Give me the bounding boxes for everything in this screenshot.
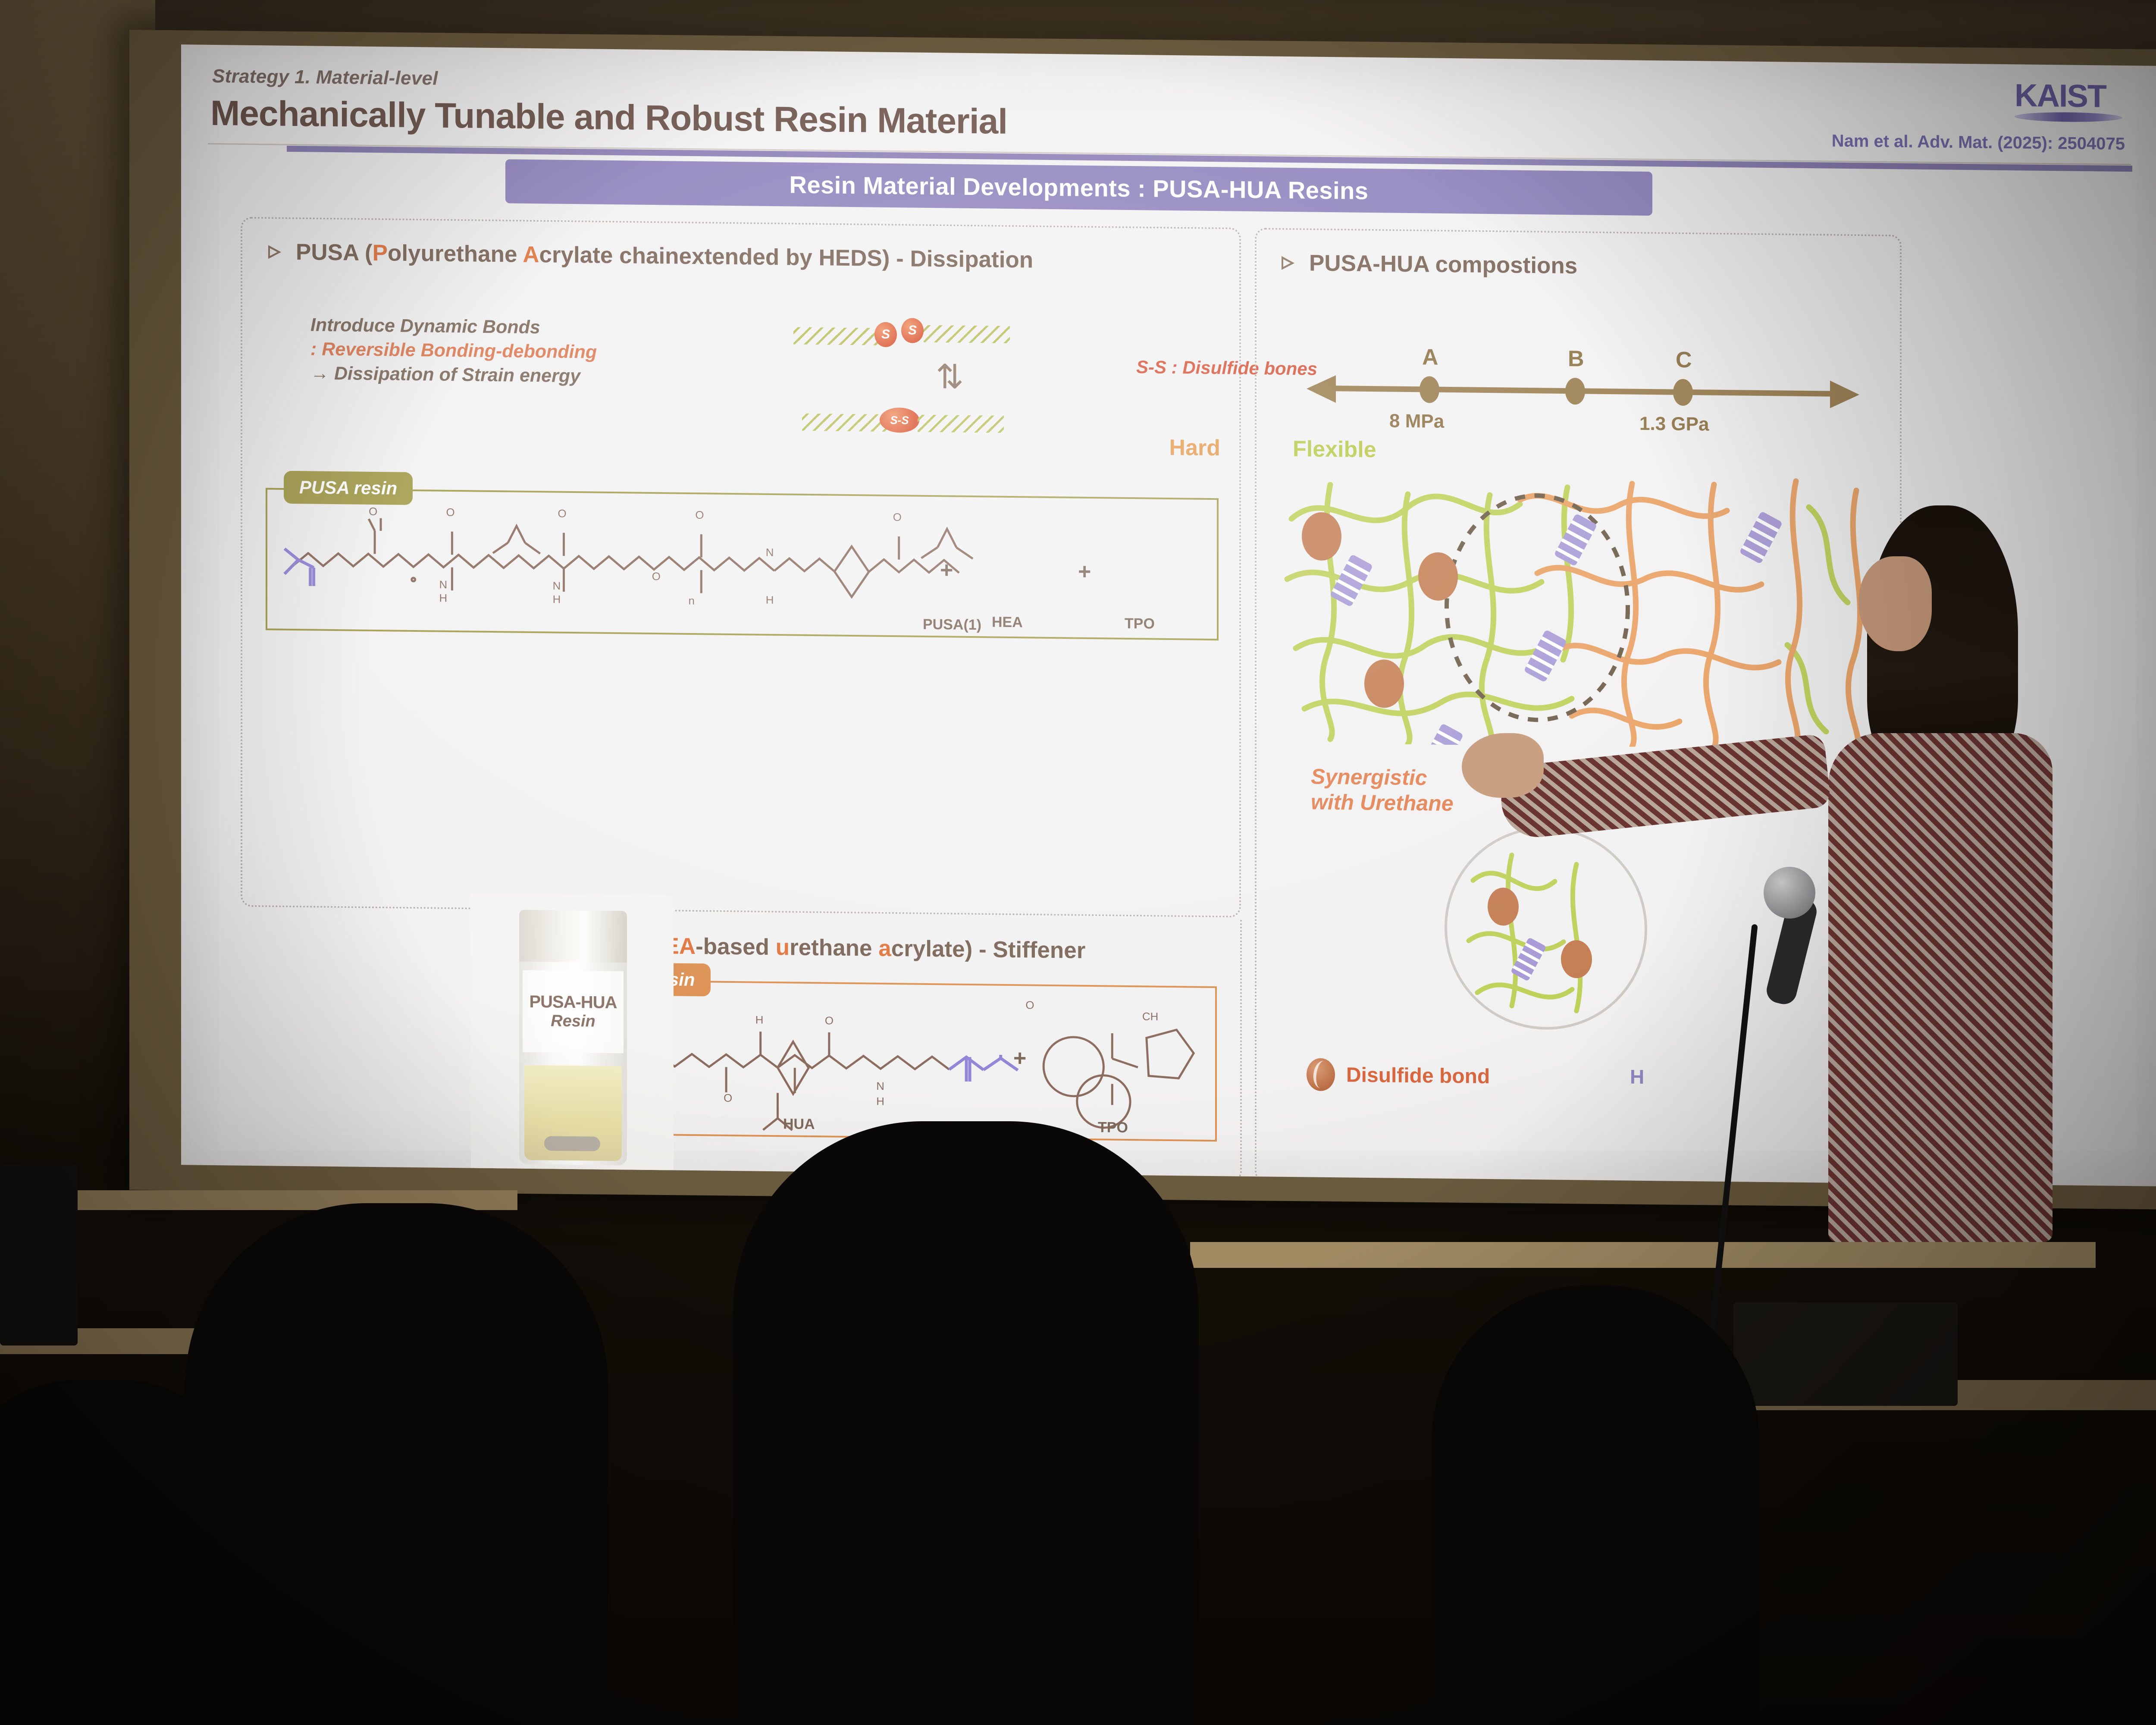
scale-point-c: [1673, 379, 1693, 406]
svg-text:N: N: [876, 1080, 884, 1092]
polymer-network-illustration: [1279, 467, 1882, 750]
bullet-compositions-label: PUSA-HUA compostions: [1309, 250, 1577, 279]
svg-text:O: O: [652, 571, 661, 583]
scale-point-b: [1565, 378, 1585, 405]
lecture-room: Strategy 1. Material-level Mechanically …: [0, 0, 2156, 1725]
scale-label-b: B: [1568, 346, 1584, 372]
svg-text:N: N: [553, 580, 561, 592]
disulfide-schematic: S S ⇅ S-S: [793, 310, 1095, 443]
network-graphic-icon: [1279, 467, 1882, 750]
dynamic-bonds-line-3: → Dissipation of Strain energy: [310, 361, 776, 391]
scale-arrow-left-icon: [1307, 375, 1336, 403]
svg-text:H: H: [553, 593, 561, 605]
audience-member-3: [1432, 1285, 1759, 1725]
svg-text:O: O: [558, 508, 567, 520]
svg-text:H: H: [755, 1014, 764, 1026]
svg-text:H: H: [439, 593, 448, 605]
scale-label-a: A: [1422, 344, 1438, 370]
disulfide-bead-joined: S-S: [880, 408, 919, 433]
desk-row-right: [1190, 1242, 2096, 1268]
synergy-line-2: with Urethane: [1311, 790, 1454, 817]
kaist-wordmark: KAIST: [2015, 81, 2122, 111]
presenter-body: [1828, 733, 2053, 1242]
monitor-left: [0, 1164, 78, 1345]
svg-text:O: O: [893, 511, 902, 524]
disulfide-bead-icon: [1307, 1058, 1335, 1091]
scale-value-c: 1.3 GPa: [1639, 413, 1709, 436]
bullet-arrow-icon: [1281, 253, 1298, 272]
svg-text:O: O: [724, 1092, 732, 1104]
scale-end-label-flexible: Flexible: [1293, 436, 1376, 463]
scale-end-label-hard: Hard: [1169, 435, 1220, 461]
slide-eyebrow: Strategy 1. Material-level: [212, 66, 438, 90]
presenter-pointing-hand: [1462, 733, 1544, 798]
synergy-annotation: Synergistic with Urethane: [1311, 764, 1454, 817]
vial: PUSA-HUA Resin: [519, 910, 627, 1166]
legend-hbond-label: H: [1630, 1065, 1644, 1088]
section-banner: Resin Material Developments : PUSA-HUA R…: [505, 159, 1652, 216]
svg-text:H: H: [766, 594, 774, 606]
pusa-chemical-structure-icon: OO OO O HH NN NH nO: [267, 489, 1217, 639]
bullet-arrow-icon: [267, 242, 285, 261]
mechanism-inset-icon: [1447, 828, 1647, 1031]
dynamic-bonds-text: Introduce Dynamic Bonds : Reversible Bon…: [310, 313, 776, 390]
scale-arrow-right-icon: [1830, 381, 1859, 409]
scale-value-a: 8 MPa: [1389, 410, 1444, 432]
vial-cap: [519, 910, 627, 963]
scale-label-c: C: [1676, 347, 1692, 373]
vial-label-line-1: PUSA-HUA: [529, 992, 617, 1013]
equilibrium-arrow-icon: ⇅: [936, 363, 956, 405]
monitor-front-right: [1733, 1302, 1958, 1406]
kaist-logo: KAIST: [2015, 81, 2122, 127]
svg-text:N: N: [439, 579, 448, 591]
svg-text:N: N: [766, 547, 774, 559]
svg-text:H: H: [876, 1095, 884, 1107]
slide-title: Mechanically Tunable and Robust Resin Ma…: [210, 93, 1007, 142]
legend-disulfide-label: Disulfide bond: [1346, 1063, 1490, 1088]
scale-point-a: [1420, 376, 1439, 403]
svg-text:CH: CH: [1142, 1011, 1158, 1023]
legend-disulfide-bond: Disulfide bond: [1307, 1058, 1490, 1093]
svg-text:O: O: [369, 506, 377, 518]
resin-vial-photo: PUSA-HUA Resin: [471, 894, 674, 1176]
pusa-resin-box: PUSA resin: [266, 488, 1219, 640]
sulfur-bead-right: S: [901, 318, 924, 343]
hua-caption: HUA: [783, 1116, 815, 1133]
svg-text:n: n: [688, 595, 694, 607]
bullet-compositions: PUSA-HUA compostions: [1281, 250, 1577, 279]
audience-member-2: [733, 1121, 1199, 1725]
svg-text:O: O: [825, 1015, 834, 1027]
mechanism-inset-circle: [1445, 826, 1647, 1031]
svg-text:O: O: [695, 509, 704, 521]
sulfur-bead-left: S: [874, 322, 897, 348]
synergy-line-1: Synergistic: [1311, 764, 1454, 791]
hua-tpo-caption: TPO: [1098, 1119, 1128, 1136]
vial-stir-bar: [544, 1136, 600, 1151]
vial-label-line-2: Resin: [551, 1012, 595, 1031]
presenter: [1802, 509, 2070, 1242]
stiffness-scale: A 8 MPa B C 1.3 GPa: [1302, 328, 1863, 425]
citation-reference: Nam et al. Adv. Mat. (2025): 2504075: [1832, 132, 2125, 154]
vial-label: PUSA-HUA Resin: [523, 970, 624, 1054]
svg-text:O: O: [1025, 999, 1034, 1011]
audience-member-1: [185, 1203, 608, 1725]
section-banner-label: Resin Material Developments : PUSA-HUA R…: [790, 170, 1369, 205]
microphone-head: [1764, 867, 1815, 919]
svg-text:O: O: [446, 507, 454, 519]
